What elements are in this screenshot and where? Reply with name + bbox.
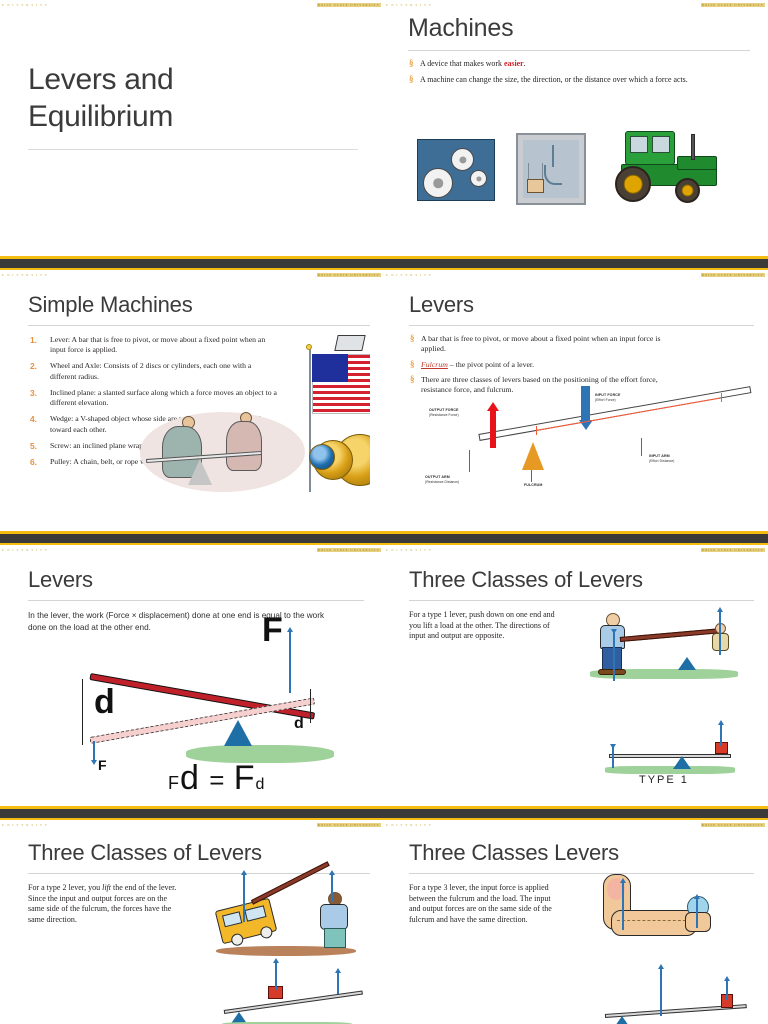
child-figure bbox=[710, 623, 732, 661]
bullet-list: § A device that makes work easier. § A m… bbox=[408, 59, 750, 85]
watermark-right: BOISE STATE UNIVERSITY bbox=[701, 273, 765, 277]
output-force-arrow-stem bbox=[490, 411, 496, 448]
slide-footer-bars bbox=[0, 531, 384, 545]
man-seesaw-child-illustration bbox=[584, 605, 744, 705]
section-bullet-icon: § bbox=[409, 58, 414, 70]
gears-illustration bbox=[417, 139, 495, 201]
slide-heading: Simple Machines bbox=[28, 292, 370, 318]
input-arm-label: INPUT ARM(Effort Distance) bbox=[649, 454, 674, 463]
bullet-text-highlight: easier bbox=[504, 59, 524, 68]
pulley-wheel-small bbox=[309, 444, 335, 470]
watermark-right: BOISE STATE UNIVERSITY bbox=[317, 823, 381, 827]
slide-heading: Machines bbox=[408, 14, 750, 43]
bullet-text-post: . bbox=[524, 59, 526, 68]
list-item: § A bar that is free to pivot, or move a… bbox=[409, 334, 664, 355]
slide-heading: Levers bbox=[409, 292, 754, 318]
green-tractor-illustration bbox=[603, 126, 733, 208]
distance-label-small: d bbox=[294, 715, 304, 733]
list-item: § A device that makes work easier. bbox=[408, 59, 750, 70]
seesaw-fulcrum-wedge bbox=[188, 459, 212, 485]
bullet-text-pre: A device that makes work bbox=[420, 59, 504, 68]
lever-bar bbox=[609, 754, 731, 758]
list-item-text: Lever: A bar that is free to pivot, or m… bbox=[50, 335, 265, 354]
force-label-small: F bbox=[98, 757, 107, 773]
heading-rule bbox=[28, 325, 370, 326]
output-force-arrow-head bbox=[487, 402, 499, 411]
title-rule bbox=[28, 149, 358, 150]
list-item: 3.Inclined plane: a slanted surface alon… bbox=[28, 388, 278, 408]
slide-heading: Three Classes of Levers bbox=[28, 840, 370, 866]
bullet-text: A bar that is free to pivot, or move abo… bbox=[421, 334, 660, 353]
type1-lever-schematic: TYPE 1 bbox=[599, 722, 749, 792]
lever-bar-ghost bbox=[89, 697, 315, 743]
person-right bbox=[222, 410, 268, 482]
fulcrum-triangle-icon bbox=[522, 442, 544, 470]
output-arm-label: OUTPUT ARM(Resistance Distance) bbox=[425, 475, 459, 484]
paragraph-emphasis: lift bbox=[102, 883, 111, 892]
list-item-text: Wheel and Axle: Consists of 2 discs or c… bbox=[50, 361, 251, 380]
slide-three-classes-type2[interactable]: U N I V E R S I T Y BOISE STATE UNIVERSI… bbox=[0, 820, 384, 1024]
input-force-label: INPUT FORCE(Effort Force) bbox=[595, 393, 620, 402]
watermark-left: U N I V E R S I T Y bbox=[386, 3, 432, 7]
bullet-text-pre: A machine can change the size, the direc… bbox=[420, 75, 688, 84]
slide-footer-bars bbox=[384, 806, 768, 820]
crane-hook-illustration bbox=[516, 133, 586, 205]
heading-rule bbox=[28, 600, 364, 601]
distance-measure-right bbox=[310, 689, 311, 723]
seesaw-plank bbox=[620, 628, 720, 642]
list-item: 2.Wheel and Axle: Consists of 2 discs or… bbox=[28, 361, 278, 381]
watermark-right: BOISE STATE UNIVERSITY bbox=[701, 823, 765, 827]
list-item: § A machine can change the size, the dir… bbox=[408, 75, 750, 86]
slide-grid: U N I V E R S I T Y BOISE STATE UNIVERSI… bbox=[0, 0, 768, 1024]
flag-pole-finial bbox=[306, 344, 312, 350]
slide-footer-bars bbox=[384, 256, 768, 270]
man-figure bbox=[318, 888, 352, 948]
section-bullet-icon: § bbox=[410, 359, 415, 371]
watermark-right: BOISE STATE UNIVERSITY bbox=[317, 3, 381, 7]
fulcrum-triangle-icon bbox=[613, 1016, 631, 1024]
section-bullet-icon: § bbox=[410, 333, 415, 345]
bullet-text: – the pivot point of a lever. bbox=[448, 360, 534, 369]
lever-bar-red bbox=[89, 673, 315, 719]
type2-lever-schematic bbox=[218, 960, 370, 1024]
page-title-line1: Levers and bbox=[28, 62, 358, 99]
watermark-left: U N I V E R S I T Y bbox=[2, 548, 48, 552]
force-label-large: F bbox=[262, 611, 283, 650]
slide-levers-work[interactable]: U N I V E R S I T Y BOISE STATE UNIVERSI… bbox=[0, 545, 384, 820]
lever-bar bbox=[224, 991, 363, 1014]
list-item-text: Inclined plane: a slanted surface along … bbox=[50, 388, 277, 407]
equation-label: Fd = Fd bbox=[168, 759, 265, 798]
heading-rule bbox=[409, 600, 754, 601]
slide-title[interactable]: U N I V E R S I T Y BOISE STATE UNIVERSI… bbox=[0, 0, 384, 270]
list-item: 1.Lever: A bar that is free to pivot, or… bbox=[28, 335, 278, 355]
type-label: TYPE 1 bbox=[639, 774, 689, 786]
title-block: Levers and Equilibrium bbox=[28, 62, 358, 150]
watermark-left: U N I V E R S I T Y bbox=[386, 823, 432, 827]
fulcrum-term: Fulcrum bbox=[421, 360, 448, 369]
flag-box bbox=[334, 335, 365, 351]
slide-three-classes-type1[interactable]: U N I V E R S I T Y BOISE STATE UNIVERSI… bbox=[384, 545, 768, 820]
distance-measure-left bbox=[82, 679, 83, 745]
heading-rule bbox=[408, 50, 750, 51]
section-bullet-icon: § bbox=[409, 74, 414, 86]
output-force-label: OUTPUT FORCE(Resistance Force) bbox=[429, 408, 459, 417]
slide-three-classes-type3[interactable]: U N I V E R S I T Y BOISE STATE UNIVERSI… bbox=[384, 820, 768, 1024]
slide-paragraph: For a type 1 lever, push down on one end… bbox=[409, 610, 559, 642]
watermark-right: BOISE STATE UNIVERSITY bbox=[317, 273, 381, 277]
slide-footer-bars bbox=[0, 806, 384, 820]
watermark-left: U N I V E R S I T Y bbox=[386, 548, 432, 552]
watermark-left: U N I V E R S I T Y bbox=[2, 3, 48, 7]
slide-paragraph: For a type 2 lever, you lift the end of … bbox=[28, 883, 180, 926]
input-arm-measure bbox=[536, 398, 719, 431]
slide-heading: Levers bbox=[28, 567, 364, 593]
input-force-arrow-stem bbox=[581, 386, 590, 420]
flag-canton bbox=[312, 354, 348, 382]
bus-figure bbox=[215, 898, 278, 945]
hand bbox=[685, 912, 711, 932]
watermark-left: U N I V E R S I T Y bbox=[2, 823, 48, 827]
slide-heading: Three Classes Levers bbox=[409, 840, 754, 866]
watermark-left: U N I V E R S I T Y bbox=[2, 273, 48, 277]
page-title-line2: Equilibrium bbox=[28, 99, 358, 136]
arm-bicep-illustration bbox=[599, 870, 729, 948]
slide-footer-bars bbox=[0, 256, 384, 270]
slide-levers-definition[interactable]: U N I V E R S I T Y BOISE STATE UNIVERSI… bbox=[384, 270, 768, 545]
ground-patch bbox=[605, 766, 735, 774]
slide-machines[interactable]: U N I V E R S I T Y BOISE STATE UNIVERSI… bbox=[384, 0, 768, 270]
hand-drawn-lever-illustration: d d F F Fd = Fd bbox=[58, 637, 358, 802]
slide-simple-machines[interactable]: U N I V E R S I T Y BOISE STATE UNIVERSI… bbox=[0, 270, 384, 545]
watermark-right: BOISE STATE UNIVERSITY bbox=[317, 548, 381, 552]
man-lifting-bus-illustration bbox=[206, 870, 366, 962]
list-item: § Fulcrum – the pivot point of a lever. bbox=[409, 360, 664, 370]
fulcrum-triangle-icon bbox=[678, 657, 696, 670]
fulcrum-label: FULCRUM bbox=[524, 483, 542, 488]
fulcrum-triangle-icon bbox=[673, 756, 691, 769]
fulcrum-triangle-icon bbox=[224, 720, 252, 746]
lever-schematic: INPUT FORCE(Effort Force) OUTPUT FORCE(R… bbox=[409, 380, 754, 520]
distance-label-large: d bbox=[94, 683, 115, 722]
watermark-right: BOISE STATE UNIVERSITY bbox=[701, 3, 765, 7]
slide-heading: Three Classes of Levers bbox=[409, 567, 754, 593]
heading-rule bbox=[409, 325, 754, 326]
handout-page: U N I V E R S I T Y BOISE STATE UNIVERSI… bbox=[0, 0, 768, 1024]
slide-paragraph: For a type 3 lever, the input force is a… bbox=[409, 883, 559, 926]
slide-paragraph: In the lever, the work (Force × displace… bbox=[28, 610, 328, 634]
type3-lever-schematic bbox=[599, 962, 754, 1024]
watermark-right: BOISE STATE UNIVERSITY bbox=[701, 548, 765, 552]
slide-footer-bars bbox=[384, 531, 768, 545]
paragraph-pre: For a type 2 lever, you bbox=[28, 883, 102, 892]
watermark-left: U N I V E R S I T Y bbox=[386, 273, 432, 277]
flag-pole bbox=[309, 347, 311, 492]
